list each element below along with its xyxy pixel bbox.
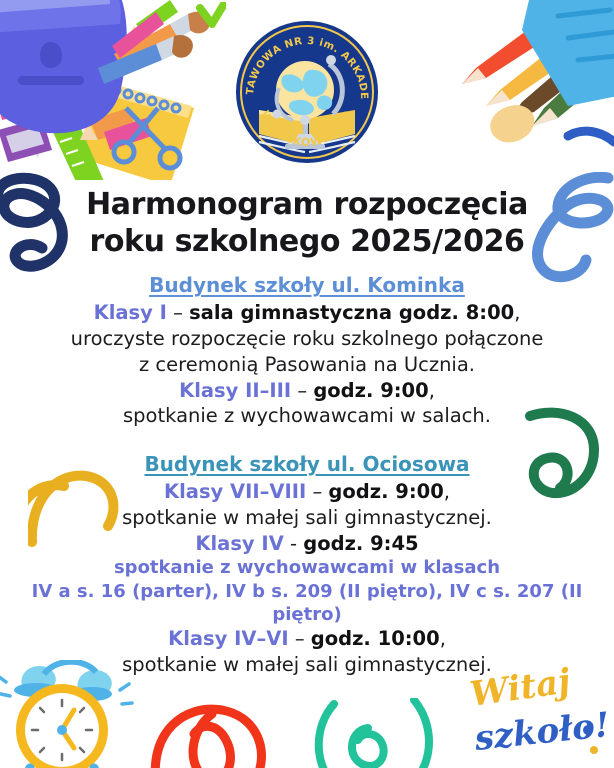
ruler-icon [52,122,106,180]
class-label: Klasy IV [195,532,283,555]
clock-face-icon [16,684,108,768]
detail-line: spotkanie z wychowawcami w salach. [12,403,602,429]
title-line-2: roku szkolnego 2025/2026 [12,223,602,260]
cup-holder-icon [522,0,614,106]
building-heading-kominka: Budynek szkoły ul. Kominka [12,272,602,298]
building-heading-ociosowa: Budynek szkoły ul. Ociosowa [12,451,602,477]
time-text: godz. 10:00 [311,627,440,650]
class-label: Klasy II–III [179,379,291,402]
page-title: Harmonogram rozpoczęcia roku szkolnego 2… [12,186,602,260]
poster-content: Harmonogram rozpoczęcia roku szkolnego 2… [0,186,614,678]
entry-klasy-i: Klasy I – sala gimnastyczna godz. 8:00, [12,300,602,326]
section-ociosowa: Budynek szkoły ul. Ociosowa Klasy VII–VI… [12,451,602,678]
entry-klasy-vii-viii: Klasy VII–VIII – godz. 9:00, [12,479,602,505]
highlight-line: spotkanie z wychowawcami w klasach [12,556,602,579]
pink-block-icon [0,82,26,120]
trailing: , [429,379,435,402]
class-label: Klasy IV–VI [168,627,289,650]
clock-ring-lines [0,676,132,704]
blue-stroke-accent [568,131,614,142]
detail-line: uroczyste rozpoczęcie roku szkolnego poł… [12,326,602,352]
detail-line: z ceremonią Pasowania na Ucznia. [12,352,602,378]
section-kominka: Budynek szkoły ul. Kominka Klasy I – sal… [12,272,602,429]
trailing: , [440,627,446,650]
brush-icon [490,105,534,142]
title-line-1: Harmonogram rozpoczęcia [12,186,602,223]
trailing: , [444,480,450,503]
dash: – [173,301,183,324]
poster-canvas: SZKOŁA PODSTAWOWA NR 3 im. ARKADEGO FIED… [0,0,614,768]
detail-line: spotkanie w małej sali gimnastycznej. [12,505,602,531]
entry-klasy-ii-iii: Klasy II–III – godz. 9:00, [12,378,602,404]
entry-klasy-iv-vi: Klasy IV–VI – godz. 10:00, [12,626,602,652]
entry-klasy-iv: Klasy IV - godz. 9:45 [12,531,602,557]
handwritten-greeting: Witaj szkoło! [468,664,608,760]
scissors-icon [114,108,180,168]
paintbrush-icon [98,12,210,84]
trailing: , [514,301,520,324]
teal-loop-squiggle [310,698,440,768]
dash: – [295,627,305,650]
dash: – [312,480,322,503]
backpack-icon [0,0,127,133]
time-text: sala gimnastyczna godz. 8:00 [189,301,514,324]
class-label: Klasy VII–VIII [164,480,306,503]
green-tick-accent [196,2,226,30]
pink-pen-icon [112,12,164,58]
rooms-line: IV a s. 16 (parter), IV b s. 209 (II pię… [12,580,602,627]
set-square-icon [10,100,50,158]
dash: - [290,532,297,555]
backpack-and-supplies-illustration [0,0,230,180]
time-text: godz. 9:00 [328,480,443,503]
pencil-case-icon [0,118,52,162]
red-loop-squiggle [150,696,290,768]
greeting-line-2: szkoło! [472,705,608,759]
pencils-icon [80,108,152,150]
class-label: Klasy I [94,301,167,324]
school-emblem: SZKOŁA PODSTAWOWA NR 3 im. ARKADEGO FIED… [233,18,381,166]
time-text: godz. 9:45 [303,532,418,555]
colored-pencils-icon [462,28,594,126]
pencil-cup-illustration [418,0,614,166]
dash: – [297,379,307,402]
greeting-line-1: Witaj [468,664,574,715]
notebook-icon [80,82,194,180]
time-text: godz. 9:00 [313,379,428,402]
small-pencil-icon [126,0,178,40]
